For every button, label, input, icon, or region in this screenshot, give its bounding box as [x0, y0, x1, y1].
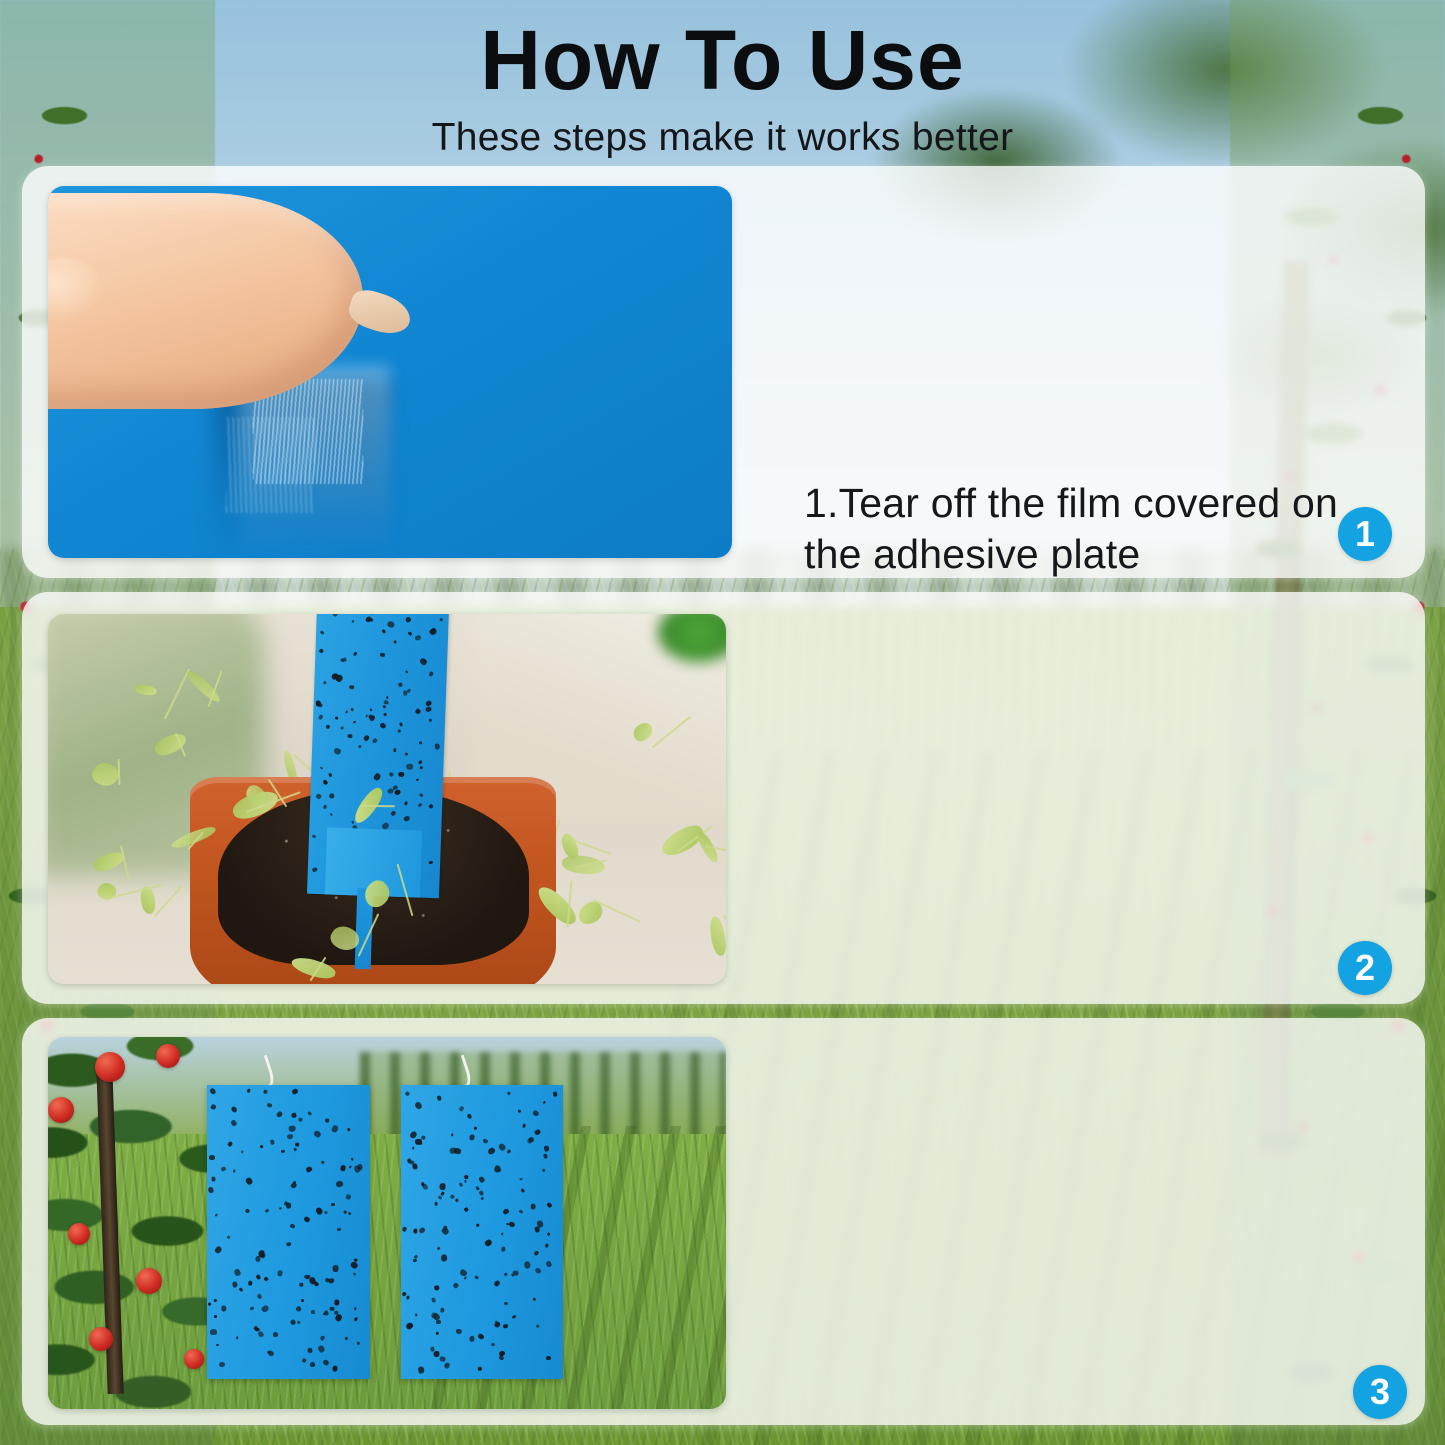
insect [487, 1146, 496, 1155]
step-card-1: 1.Tear off the film covered on the adhes… [22, 166, 1425, 578]
insect [264, 1208, 269, 1213]
insect [545, 1261, 552, 1268]
apple [136, 1268, 162, 1294]
insect [236, 1336, 238, 1339]
page-title: How To Use [0, 18, 1445, 102]
insect [439, 1184, 445, 1191]
insect [248, 1281, 253, 1286]
insect [405, 1322, 414, 1331]
insect [297, 1118, 302, 1122]
insect [301, 1358, 306, 1363]
seedling-stem [361, 805, 395, 808]
insect [272, 1332, 278, 1337]
insect [286, 1242, 292, 1247]
insect [316, 1206, 324, 1215]
insect [415, 1313, 417, 1316]
insect [476, 1187, 480, 1192]
insect [355, 1259, 357, 1262]
insect [347, 1211, 351, 1215]
insect [230, 1106, 238, 1114]
insect [413, 1229, 418, 1234]
seedling-leaf [289, 953, 337, 983]
insect [216, 1344, 219, 1347]
insect [459, 1269, 468, 1278]
insect [287, 1133, 294, 1139]
insect [459, 1106, 465, 1112]
insect [295, 1143, 299, 1147]
insect [474, 1127, 477, 1131]
insect [421, 1182, 424, 1186]
insect [322, 1358, 330, 1366]
insect [357, 1164, 362, 1170]
insect [463, 1207, 469, 1212]
insect [289, 1223, 295, 1229]
insect [534, 1226, 541, 1233]
insect [354, 1259, 358, 1263]
insect [306, 1274, 310, 1278]
hanging-sticky-trap-right [401, 1085, 564, 1379]
step-1-badge: 1 [1338, 507, 1392, 561]
peeling-film-strands [226, 417, 315, 514]
insect [464, 1276, 468, 1280]
insect [294, 1147, 297, 1151]
insect [238, 1287, 243, 1292]
insect [214, 1298, 218, 1302]
insect [547, 1232, 551, 1236]
insect [230, 1119, 237, 1126]
insect [459, 1182, 464, 1187]
insect [330, 1307, 335, 1311]
insect [533, 1250, 540, 1257]
insect [307, 1347, 312, 1353]
insect [350, 1261, 359, 1269]
insect [257, 1293, 263, 1300]
insect [337, 1228, 341, 1232]
apple [48, 1097, 74, 1123]
seedling-leaf [230, 787, 281, 822]
insect [356, 1341, 360, 1345]
insect [267, 1350, 271, 1354]
insect [347, 1127, 350, 1131]
insect [490, 1342, 494, 1346]
insect [245, 1208, 251, 1214]
insect [334, 1300, 339, 1306]
insect [478, 1366, 483, 1371]
insect [255, 1256, 261, 1262]
insect [256, 1328, 261, 1332]
insect [215, 1214, 219, 1218]
insect [454, 1198, 458, 1202]
insect [214, 1245, 223, 1254]
insect [348, 1166, 351, 1169]
insect [295, 1305, 302, 1312]
insect [436, 1246, 440, 1250]
insect [406, 1295, 411, 1300]
insect [259, 1252, 266, 1259]
insect [208, 1302, 212, 1306]
insect [259, 1144, 263, 1148]
insect [291, 1087, 299, 1094]
insect [291, 1112, 296, 1118]
insect [441, 1226, 449, 1234]
step-1-text: 1.Tear off the film covered on the adhes… [804, 478, 1404, 578]
insect [532, 1110, 539, 1117]
insect [533, 1298, 537, 1302]
insect [288, 1126, 295, 1132]
insect [412, 1163, 418, 1170]
apple [89, 1327, 113, 1351]
insect [305, 1166, 312, 1173]
insect [354, 1317, 358, 1321]
finger-knuckle [48, 258, 104, 323]
insect [421, 1136, 426, 1140]
insect [332, 1265, 338, 1272]
insect [508, 1221, 516, 1228]
insect [219, 1361, 225, 1367]
insect [499, 1350, 507, 1358]
insect [303, 1274, 310, 1280]
insect [453, 1148, 461, 1155]
insect [324, 1210, 328, 1214]
insect [221, 1305, 226, 1311]
seedling-leaf [534, 881, 580, 929]
insect [211, 1177, 215, 1182]
insect [497, 1169, 501, 1173]
insect [331, 1203, 335, 1206]
insect [435, 1202, 438, 1206]
insect [520, 1189, 525, 1194]
insect [414, 1254, 419, 1259]
trapped-insects-right [401, 1085, 564, 1379]
insect [439, 1356, 446, 1362]
insect [286, 1203, 291, 1209]
seedling-leaf [359, 876, 394, 911]
insect [258, 1331, 265, 1338]
insect [209, 1088, 216, 1095]
insect [241, 1151, 244, 1154]
insect [469, 1134, 476, 1141]
insect [482, 1138, 488, 1144]
insect [434, 1286, 440, 1291]
insect [352, 1273, 356, 1277]
insect [441, 1254, 447, 1261]
insect [553, 1092, 558, 1097]
insect [526, 1137, 533, 1145]
insect [214, 1315, 217, 1318]
insect [519, 1209, 523, 1213]
insect [431, 1313, 437, 1320]
insect [281, 1149, 285, 1153]
insect [325, 1277, 330, 1283]
insect [227, 1235, 230, 1238]
insect [493, 1321, 501, 1329]
insect [336, 1181, 344, 1188]
insect [209, 1155, 215, 1160]
insect [438, 1196, 443, 1201]
insect [544, 1146, 549, 1152]
insect [464, 1180, 466, 1183]
insect [307, 1111, 312, 1116]
step-3-badge: 3 [1353, 1365, 1407, 1419]
insect [208, 1187, 214, 1194]
insect [299, 1283, 303, 1287]
insect [484, 1239, 493, 1248]
insect [343, 1211, 347, 1215]
insect [328, 1277, 335, 1284]
insect [464, 1175, 468, 1180]
insect [308, 1276, 316, 1284]
insect [477, 1333, 485, 1340]
insect [284, 1201, 290, 1207]
insect [297, 1320, 301, 1324]
seedling-leaf [560, 831, 581, 860]
insect [443, 1362, 450, 1370]
insect [247, 1088, 251, 1092]
insect [511, 1274, 515, 1278]
insect [404, 1091, 410, 1097]
insect [291, 1182, 299, 1189]
insect [476, 1224, 479, 1227]
insect [522, 1123, 526, 1127]
insect [503, 1323, 509, 1328]
hanging-sticky-trap-left [207, 1085, 370, 1379]
insect [449, 1147, 457, 1154]
insect [529, 1137, 534, 1142]
seedling-stem [396, 864, 413, 916]
step-2-badge: 2 [1338, 941, 1392, 995]
insect [503, 1301, 507, 1304]
insect [264, 1276, 269, 1281]
insect [418, 1227, 425, 1234]
insect [253, 1326, 259, 1332]
insect [506, 1222, 509, 1225]
insect [430, 1297, 436, 1303]
insect [479, 1190, 485, 1196]
seedling-stem [112, 884, 162, 898]
insect [440, 1191, 445, 1196]
insect [430, 1347, 435, 1353]
insect [437, 1096, 442, 1101]
insect [261, 1305, 270, 1313]
insect [481, 1197, 485, 1201]
insect [322, 1313, 325, 1316]
insect [542, 1153, 547, 1159]
insect [414, 1102, 423, 1111]
insect [530, 1204, 536, 1210]
insect [495, 1320, 498, 1323]
apple [184, 1349, 204, 1369]
insect [320, 1335, 326, 1341]
insect [276, 1111, 283, 1118]
insect [210, 1329, 217, 1335]
insect [502, 1208, 510, 1216]
insect [534, 1129, 541, 1136]
insect [334, 1314, 342, 1323]
insect [256, 1275, 262, 1281]
insect [513, 1271, 519, 1276]
insect [536, 1325, 539, 1329]
insect [309, 1362, 315, 1367]
insect [439, 1308, 444, 1314]
trapped-insects-left [207, 1085, 370, 1379]
insect [418, 1366, 425, 1374]
insect [220, 1166, 226, 1172]
insect [545, 1243, 549, 1248]
seedling-leaf [170, 825, 218, 851]
insect [479, 1176, 486, 1183]
insect [292, 1181, 296, 1184]
insect [300, 1299, 304, 1302]
insect [449, 1194, 454, 1200]
insect [354, 1308, 357, 1311]
insect [507, 1149, 512, 1154]
step-card-3: 3.You can also hang it anywhere you want [22, 1018, 1425, 1425]
step-2-image [48, 614, 726, 984]
insect [353, 1165, 360, 1173]
insect [502, 1246, 506, 1251]
insect [344, 1337, 348, 1341]
insect [436, 1331, 439, 1335]
insect [470, 1335, 476, 1342]
insect [323, 1310, 329, 1316]
insect [518, 1110, 521, 1114]
insect [542, 1100, 545, 1103]
insect [325, 1118, 330, 1123]
insect [340, 1165, 346, 1171]
insect [474, 1275, 479, 1279]
insect [451, 1134, 454, 1137]
insect [452, 1281, 459, 1288]
insect [331, 1125, 339, 1133]
insect [266, 1103, 272, 1108]
insect [313, 1130, 322, 1139]
page-subtitle: These steps make it works better [0, 116, 1445, 160]
insect [401, 1226, 407, 1232]
insect [245, 1176, 253, 1184]
insect [436, 1320, 441, 1324]
insect [279, 1206, 282, 1209]
insect [350, 1157, 353, 1161]
insect [210, 1104, 216, 1111]
seedling-leaf [709, 915, 726, 956]
insect [433, 1313, 442, 1322]
seedling-leaf [328, 922, 364, 956]
insect [443, 1225, 447, 1229]
insect [228, 1141, 234, 1147]
insect [313, 1281, 319, 1287]
insect [493, 1165, 501, 1173]
insect [290, 1319, 297, 1326]
seedling-leaf [95, 879, 120, 903]
insect [456, 1328, 463, 1334]
insect [346, 1194, 352, 1200]
insect [334, 1311, 339, 1315]
insect [524, 1261, 531, 1269]
insect [402, 1291, 407, 1297]
insect [467, 1113, 473, 1120]
insect [520, 1178, 523, 1180]
insect [232, 1281, 238, 1287]
step-card-2: 2.Clip the adhesive board to the ground … [22, 592, 1425, 1004]
insect [234, 1269, 242, 1277]
insect [413, 1259, 417, 1263]
insect [332, 1365, 338, 1372]
insect [546, 1356, 551, 1361]
insect [433, 1350, 439, 1356]
insect [504, 1272, 507, 1275]
insect [249, 1306, 254, 1310]
insect [317, 1344, 326, 1353]
insect [421, 1182, 429, 1190]
step-1-image [48, 186, 732, 558]
insect [535, 1267, 543, 1275]
insect [277, 1270, 283, 1276]
insect [498, 1142, 506, 1151]
insect [262, 1089, 267, 1094]
insect [409, 1130, 418, 1139]
insect [258, 1250, 264, 1257]
header: How To Use These steps make it works bet… [0, 18, 1445, 160]
insect [406, 1158, 411, 1164]
insect [410, 1160, 415, 1164]
insect [270, 1139, 275, 1145]
insect [512, 1314, 517, 1319]
insect [415, 1138, 423, 1145]
insect [233, 1169, 236, 1173]
insect [501, 1232, 504, 1235]
seedling-stem [358, 914, 380, 957]
insect [311, 1310, 315, 1314]
insect [498, 1355, 504, 1361]
insect [537, 1220, 544, 1228]
insect [542, 1168, 546, 1172]
step-3-image [48, 1037, 726, 1409]
insect [412, 1147, 415, 1150]
insect [303, 1215, 311, 1222]
insect [267, 1350, 275, 1357]
insect [507, 1091, 510, 1094]
insect [321, 1161, 324, 1164]
foreground-seedlings [48, 614, 726, 984]
insect [419, 1141, 423, 1145]
insect [546, 1202, 552, 1208]
insect [493, 1279, 501, 1287]
